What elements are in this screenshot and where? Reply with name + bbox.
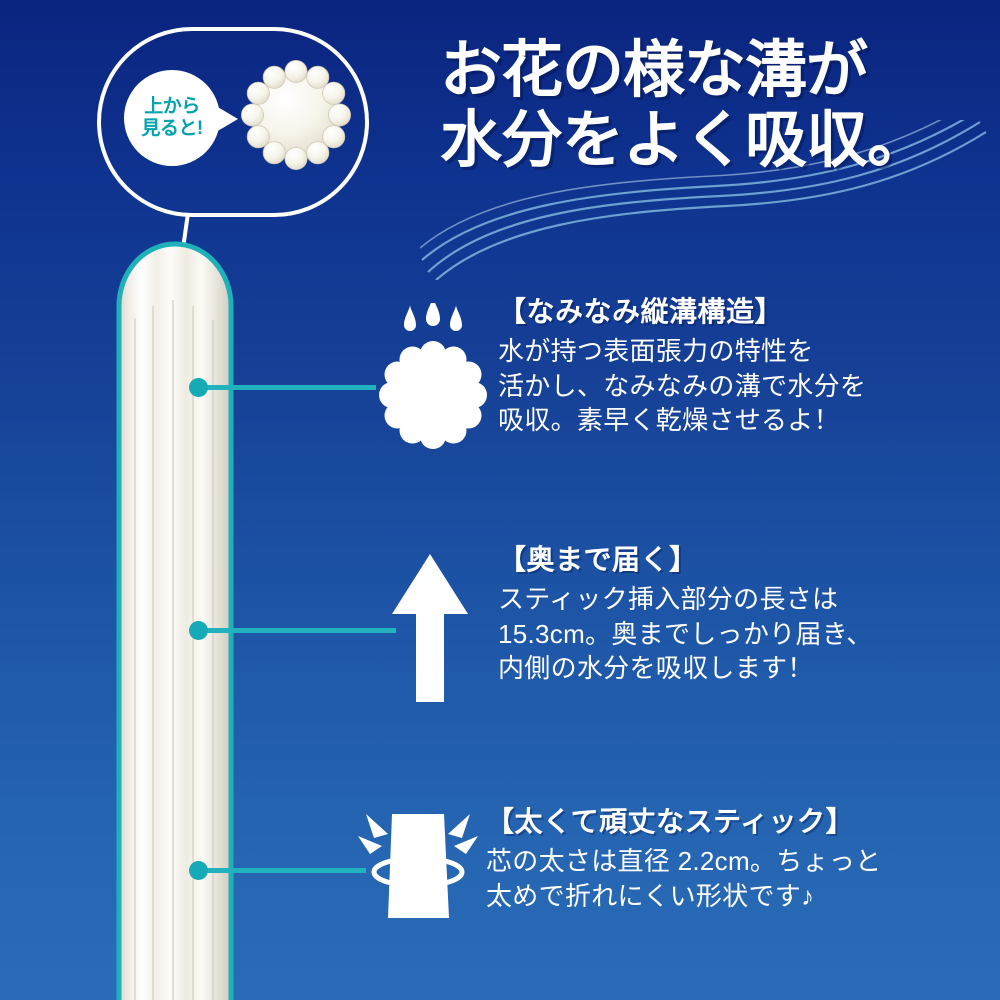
speech-bubble-tail	[216, 106, 238, 132]
feature-1-body-line-1: 水が持つ表面張力の特性を	[498, 334, 866, 369]
flower-cross-section-photo	[238, 57, 354, 173]
headline-line-2: 水分をよく吸収。	[440, 106, 985, 176]
connector-line-2	[196, 628, 396, 633]
stick-product-image	[113, 240, 237, 1000]
feature-2-body: スティック挿入部分の長さは 15.3cm。奥までしっかり届き、 内側の水分を吸収…	[498, 582, 873, 686]
feature-1-body-line-2: 活かし、なみなみの溝で水分を	[498, 369, 866, 404]
feature-3-body-line-1: 芯の太さは直径 2.2cm。ちょっと	[486, 844, 881, 879]
feature-2-text: 【奥まで届く】 スティック挿入部分の長さは 15.3cm。奥までしっかり届き、 …	[498, 538, 873, 686]
connector-dot-3	[189, 861, 208, 880]
feature-1-body: 水が持つ表面張力の特性を 活かし、なみなみの溝で水分を 吸収。素早く乾燥させるよ…	[498, 334, 866, 438]
speech-bubble: 上から 見ると!	[124, 70, 220, 166]
feature-1-title: 【なみなみ縦溝構造】	[498, 290, 866, 330]
connector-line-1	[196, 385, 376, 390]
feature-1-body-line-3: 吸収。素早く乾燥させるよ！	[498, 403, 866, 438]
flower-droplets-icon	[374, 303, 492, 451]
bubble-line-2: 見ると!	[141, 118, 202, 140]
thick-stick-ring-icon	[348, 800, 488, 926]
product-feature-poster: お花の様な溝が 水分をよく吸収。 上から 見ると!	[0, 0, 1000, 1000]
feature-2-body-line-3: 内側の水分を吸収します！	[498, 651, 873, 686]
feature-3-title: 【太くて頑丈なスティック】	[486, 800, 881, 840]
feature-2-title: 【奥まで届く】	[498, 538, 873, 578]
connector-dot-2	[189, 621, 208, 640]
feature-1-text: 【なみなみ縦溝構造】 水が持つ表面張力の特性を 活かし、なみなみの溝で水分を 吸…	[498, 290, 866, 438]
feature-2-body-line-1: スティック挿入部分の長さは	[498, 582, 873, 617]
feature-3-body-line-2: 太めで折れにくい形状です♪	[486, 879, 881, 914]
connector-dot-1	[189, 378, 208, 397]
page-title: お花の様な溝が 水分をよく吸収。	[440, 36, 985, 176]
feature-3-body: 芯の太さは直径 2.2cm。ちょっと 太めで折れにくい形状です♪	[486, 844, 881, 913]
feature-3-text: 【太くて頑丈なスティック】 芯の太さは直径 2.2cm。ちょっと 太めで折れにく…	[486, 800, 881, 913]
bubble-line-1: 上から	[144, 96, 200, 118]
up-arrow-icon	[388, 552, 472, 704]
feature-2-body-line-2: 15.3cm。奥までしっかり届き、	[498, 617, 873, 652]
connector-line-3	[196, 868, 366, 873]
headline-line-1: お花の様な溝が	[440, 36, 867, 105]
